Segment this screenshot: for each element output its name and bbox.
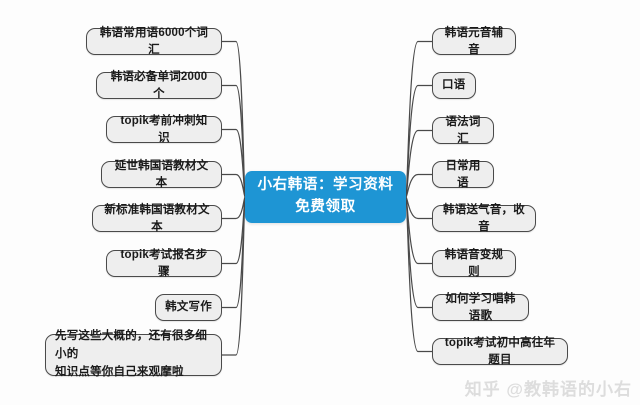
- connector-right-3: [406, 131, 432, 198]
- right-branch-node-2[interactable]: 口语: [432, 72, 476, 99]
- right-branch-node-5[interactable]: 韩语送气音，收音: [432, 205, 536, 232]
- left-branch-node-4[interactable]: 延世韩国语教材文本: [101, 161, 222, 188]
- connector-right-5: [406, 197, 432, 219]
- connector-left-4: [222, 175, 245, 198]
- right-branch-node-1[interactable]: 韩语元音辅音: [432, 28, 516, 55]
- right-branch-node-8[interactable]: topik考试初中高往年题目: [432, 338, 568, 365]
- connector-left-5: [222, 197, 245, 219]
- connector-left-7: [222, 197, 245, 308]
- left-branch-node-6[interactable]: topik考试报名步骤: [106, 250, 222, 277]
- center-node[interactable]: 小右韩语：学习资料 免费领取: [245, 171, 406, 223]
- connector-right-1: [406, 42, 432, 198]
- mindmap-canvas: 小右韩语：学习资料 免费领取 韩语常用语6000个词汇韩语必备单词2000个to…: [0, 0, 640, 405]
- left-branch-node-8[interactable]: 先写这些大概的，还有很多细小的 知识点等你自己来观摩啦: [45, 334, 222, 376]
- connector-right-2: [406, 86, 432, 198]
- left-branch-node-5[interactable]: 新标准韩国语教材文本: [92, 205, 222, 232]
- left-branch-node-7[interactable]: 韩文写作: [155, 294, 222, 321]
- connector-left-1: [222, 42, 245, 198]
- left-branch-node-2[interactable]: 韩语必备单词2000个: [96, 72, 222, 99]
- right-branch-node-4[interactable]: 日常用语: [432, 161, 494, 188]
- connector-right-4: [406, 175, 432, 198]
- left-branch-node-3[interactable]: topik考前冲刺知识: [106, 116, 222, 143]
- connector-right-7: [406, 197, 432, 308]
- left-branch-node-1[interactable]: 韩语常用语6000个词汇: [86, 28, 222, 55]
- right-branch-node-7[interactable]: 如何学习唱韩语歌: [432, 294, 529, 321]
- connector-left-6: [222, 197, 245, 264]
- watermark: 知乎 @教韩语的小右: [465, 375, 632, 400]
- connector-left-8: [222, 197, 245, 355]
- connector-left-2: [222, 86, 245, 198]
- connector-left-3: [222, 130, 245, 198]
- right-branch-node-6[interactable]: 韩语音变规则: [432, 250, 516, 277]
- right-branch-node-3[interactable]: 语法词汇: [432, 117, 494, 144]
- connector-right-6: [406, 197, 432, 264]
- connector-right-8: [406, 197, 432, 352]
